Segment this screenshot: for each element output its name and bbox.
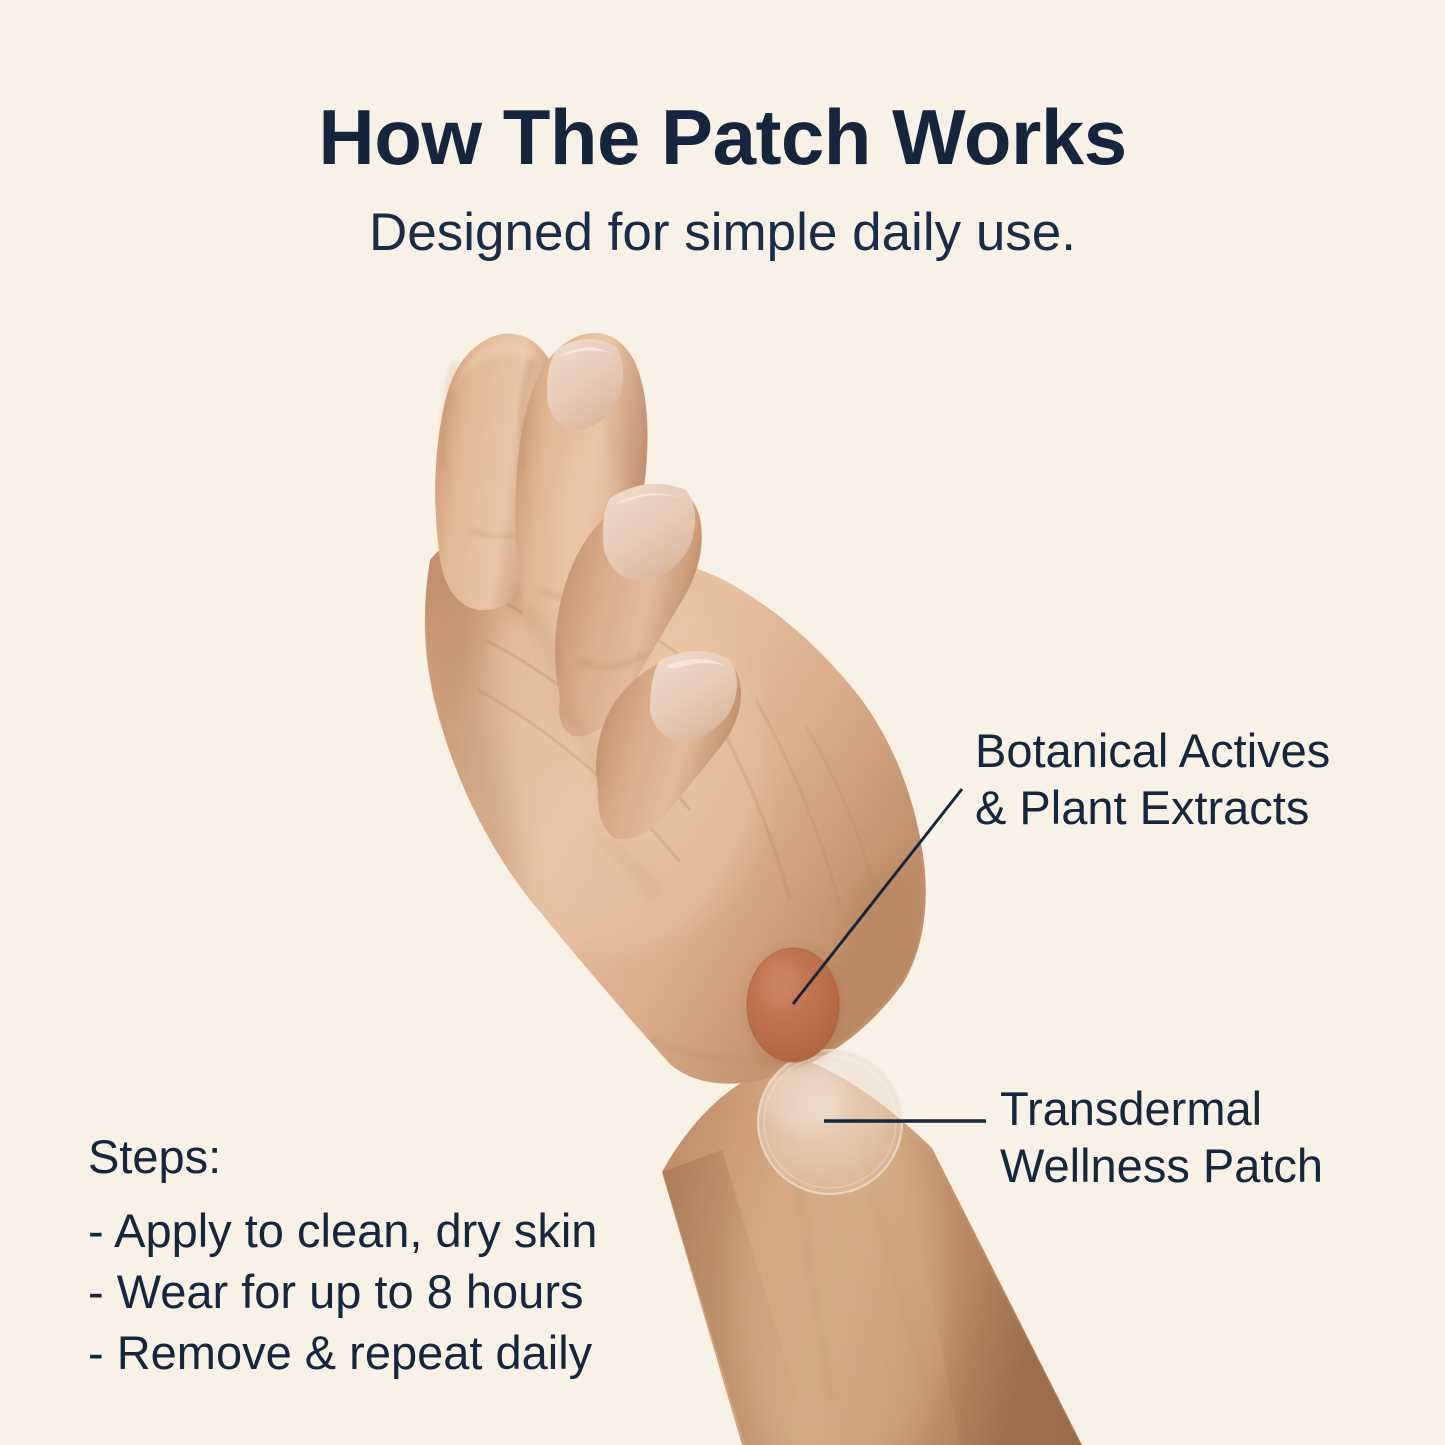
clear-adhesive-disc [758, 1050, 902, 1194]
infographic-canvas: How The Patch Works Designed for simple … [0, 0, 1445, 1445]
header-block: How The Patch Works Designed for simple … [0, 0, 1445, 259]
callout-botanical-actives: Botanical Actives & Plant Extracts [975, 722, 1330, 837]
callout-transdermal-patch: Transdermal Wellness Patch [1000, 1080, 1323, 1195]
steps-block: Steps: - Apply to clean, dry skin - Wear… [88, 1133, 597, 1383]
page-subtitle: Designed for simple daily use. [0, 176, 1445, 259]
steps-list-item: - Apply to clean, dry skin [88, 1200, 597, 1261]
callout-transdermal-patch-line1: Transdermal [1000, 1080, 1323, 1137]
steps-heading: Steps: [88, 1133, 597, 1180]
page-title: How The Patch Works [0, 0, 1445, 176]
steps-list: - Apply to clean, dry skin - Wear for up… [88, 1200, 597, 1383]
callout-transdermal-patch-line2: Wellness Patch [1000, 1137, 1323, 1194]
callout-botanical-actives-line2: & Plant Extracts [975, 779, 1330, 836]
terracotta-active-patch [747, 948, 841, 1065]
steps-list-item: - Remove & repeat daily [88, 1322, 597, 1383]
callout-botanical-actives-line1: Botanical Actives [975, 722, 1330, 779]
steps-list-item: - Wear for up to 8 hours [88, 1261, 597, 1322]
